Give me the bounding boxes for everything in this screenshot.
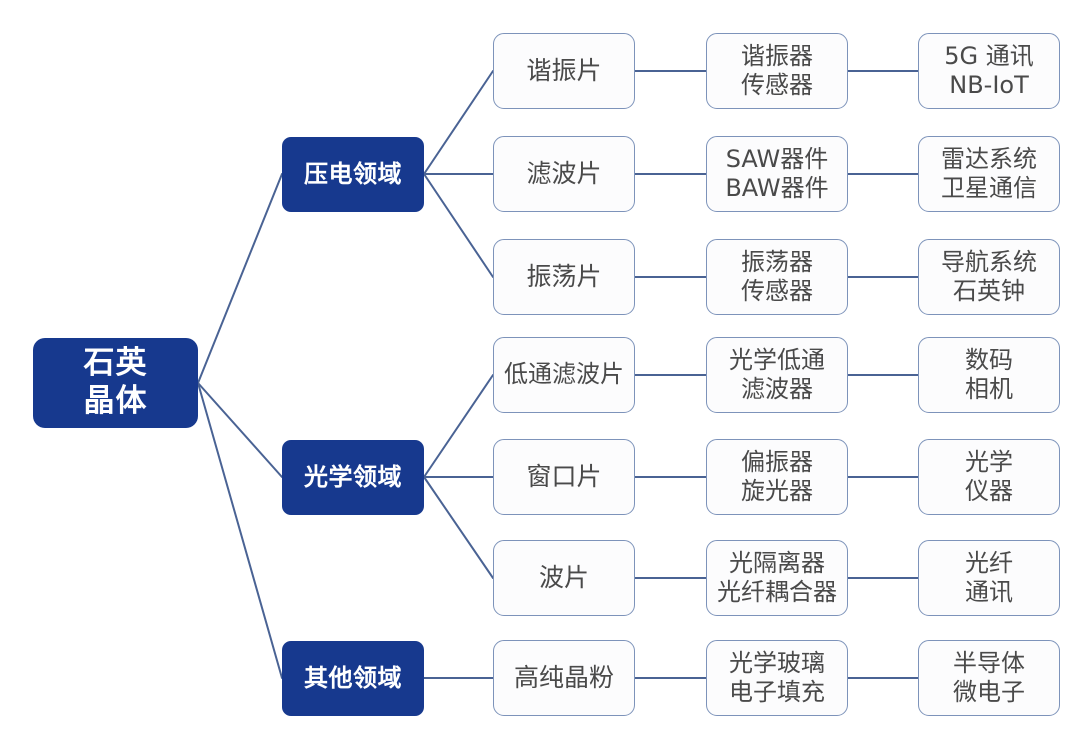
- node-line-1: SAW器件: [726, 145, 829, 174]
- root-node-line-1: 石英: [84, 345, 148, 383]
- node-line-1: 光学玻璃: [729, 649, 825, 678]
- node-line-2: 光纤耦合器: [717, 578, 837, 607]
- node-line-2: 微电子: [953, 678, 1025, 707]
- edge-optical-to-r4: [424, 375, 493, 477]
- application-node-semiconductor-microelectronics[interactable]: 半导体 微电子: [918, 640, 1060, 716]
- material-node-window-wafer[interactable]: 窗口片: [493, 439, 635, 515]
- application-node-optical-instrument[interactable]: 光学 仪器: [918, 439, 1060, 515]
- material-node-filter-wafer[interactable]: 滤波片: [493, 136, 635, 212]
- node-line-1: 光纤: [965, 549, 1013, 578]
- device-node-optical-glass-electronic-filling[interactable]: 光学玻璃 电子填充: [706, 640, 848, 716]
- branch-node-optical[interactable]: 光学领域: [282, 440, 424, 515]
- root-node-quartz-crystal[interactable]: 石英 晶体: [33, 338, 198, 428]
- node-line-1: 谐振器: [741, 42, 813, 71]
- edge-piezo-to-r1: [424, 71, 493, 174]
- node-line-2: 仪器: [965, 477, 1013, 506]
- node-line-1: 滤波片: [526, 159, 601, 190]
- application-node-navigation-quartzclock[interactable]: 导航系统 石英钟: [918, 239, 1060, 315]
- device-node-isolator-fiber-coupler[interactable]: 光隔离器 光纤耦合器: [706, 540, 848, 616]
- edge-optical-to-r6: [424, 477, 493, 578]
- application-node-radar-satellite[interactable]: 雷达系统 卫星通信: [918, 136, 1060, 212]
- node-line-2: 电子填充: [729, 678, 825, 707]
- diagram-canvas: 石英 晶体 压电领域 光学领域 其他领域 谐振片 谐振器 传感器 5G 通讯 N…: [0, 0, 1080, 755]
- node-line-1: 雷达系统: [941, 145, 1037, 174]
- application-node-digital-camera[interactable]: 数码 相机: [918, 337, 1060, 413]
- node-line-1: 振荡片: [526, 262, 601, 293]
- node-line-2: 卫星通信: [941, 174, 1037, 203]
- node-line-1: 谐振片: [526, 56, 601, 87]
- node-line-1: 光学低通: [729, 346, 825, 375]
- branch-label: 光学领域: [304, 463, 402, 492]
- node-line-2: 旋光器: [741, 477, 813, 506]
- node-line-2: BAW器件: [725, 174, 828, 203]
- branch-label: 压电领域: [304, 160, 402, 189]
- node-line-1: 振荡器: [741, 248, 813, 277]
- node-line-2: 传感器: [741, 71, 813, 100]
- application-node-fiber-communication[interactable]: 光纤 通讯: [918, 540, 1060, 616]
- branch-node-other[interactable]: 其他领域: [282, 641, 424, 716]
- material-node-resonator-wafer[interactable]: 谐振片: [493, 33, 635, 109]
- device-node-oscillator-sensor[interactable]: 振荡器 传感器: [706, 239, 848, 315]
- device-node-polarizer-rotator[interactable]: 偏振器 旋光器: [706, 439, 848, 515]
- node-line-2: 滤波器: [741, 375, 813, 404]
- edge-root-to-other: [198, 383, 282, 678]
- node-line-1: 数码: [965, 346, 1013, 375]
- node-line-1: 光学: [965, 448, 1013, 477]
- node-line-1: 偏振器: [741, 448, 813, 477]
- node-line-1: 波片: [539, 563, 589, 594]
- material-node-high-purity-crystal-powder[interactable]: 高纯晶粉: [493, 640, 635, 716]
- node-line-2: 相机: [965, 375, 1013, 404]
- node-line-1: 半导体: [953, 649, 1025, 678]
- edge-root-to-piezo: [198, 174, 282, 383]
- application-node-5g-nbiot[interactable]: 5G 通讯 NB-IoT: [918, 33, 1060, 109]
- edge-root-to-optical: [198, 383, 282, 477]
- node-line-1: 高纯晶粉: [514, 663, 614, 694]
- branch-label: 其他领域: [304, 664, 402, 693]
- node-line-1: 光隔离器: [729, 549, 825, 578]
- node-line-2: 传感器: [741, 277, 813, 306]
- material-node-lowpass-filter-wafer[interactable]: 低通滤波片: [493, 337, 635, 413]
- node-line-1: 低通滤波片: [504, 360, 624, 389]
- device-node-saw-baw[interactable]: SAW器件 BAW器件: [706, 136, 848, 212]
- node-line-1: 窗口片: [526, 462, 601, 493]
- device-node-resonator-sensor[interactable]: 谐振器 传感器: [706, 33, 848, 109]
- branch-node-piezoelectric[interactable]: 压电领域: [282, 137, 424, 212]
- node-line-2: NB-IoT: [949, 71, 1029, 100]
- root-node-line-2: 晶体: [84, 383, 148, 421]
- node-line-1: 5G 通讯: [944, 42, 1034, 71]
- node-line-2: 通讯: [965, 578, 1013, 607]
- node-line-1: 导航系统: [941, 248, 1037, 277]
- node-line-2: 石英钟: [953, 277, 1025, 306]
- device-node-optical-lowpass-filter[interactable]: 光学低通 滤波器: [706, 337, 848, 413]
- material-node-oscillator-wafer[interactable]: 振荡片: [493, 239, 635, 315]
- material-node-waveplate[interactable]: 波片: [493, 540, 635, 616]
- edge-piezo-to-r3: [424, 174, 493, 277]
